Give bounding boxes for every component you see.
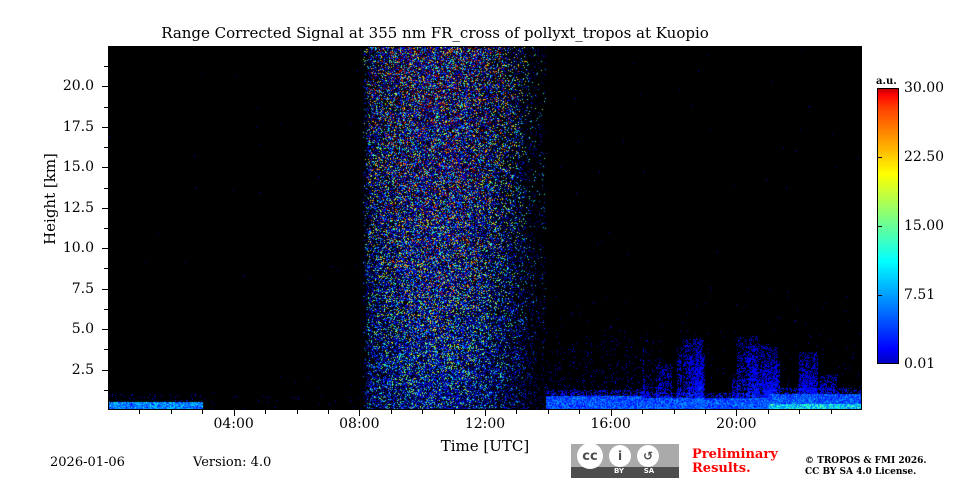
x-tick-mark-minor [171,410,172,414]
y-tick-mark [102,248,108,249]
colorbar-tick-mark [877,295,882,296]
y-tick-mark-minor [104,390,108,391]
x-tick-mark-minor [642,410,643,414]
x-tick-mark-minor [422,410,423,414]
x-tick-mark-minor [328,410,329,414]
lidar-quicklook-plot [108,46,862,410]
colorbar-tick-label: 22.50 [904,149,944,165]
badge-label-row: BY SA [571,467,679,477]
colorbar-tick-mark [877,157,882,158]
y-tick-label: 15.0 [34,159,94,175]
x-tick-mark-minor [705,410,706,414]
x-tick-mark [359,410,360,416]
preliminary-results-note: Preliminary Results. [692,448,778,476]
colorbar-tick-mark [877,226,882,227]
footer-version: Version: 4.0 [193,455,271,470]
by-icon: i [609,445,631,467]
x-tick-mark-minor [297,410,298,414]
y-tick-label: 20.0 [34,78,94,94]
x-tick-mark-minor [202,410,203,414]
x-tick-label: 04:00 [194,416,274,432]
x-tick-label: 12:00 [445,416,525,432]
preliminary-line-2: Results. [692,462,778,476]
x-tick-mark-minor [265,410,266,414]
heatmap-canvas [109,47,862,410]
colorbar-tick-label: 30.00 [904,80,944,96]
copyright-line-1: © TROPOS & FMI 2026. [805,456,927,467]
x-tick-mark-minor [831,410,832,414]
x-tick-label: 20:00 [696,416,776,432]
y-tick-label: 17.5 [34,119,94,135]
x-tick-mark [234,410,235,416]
y-tick-label: 7.5 [34,281,94,297]
x-tick-label: 16:00 [571,416,651,432]
x-tick-mark-minor [548,410,549,414]
colorbar-tick-label: 0.01 [904,356,935,372]
x-tick-mark [611,410,612,416]
x-tick-mark-minor [516,410,517,414]
y-tick-mark [102,208,108,209]
y-tick-mark [102,86,108,87]
by-label: BY [607,467,631,475]
y-tick-label: 5.0 [34,321,94,337]
cc-icon: cc [577,443,603,469]
y-tick-mark [102,167,108,168]
x-tick-mark [485,410,486,416]
footer-date: 2026-01-06 [50,455,125,470]
preliminary-line-1: Preliminary [692,448,778,462]
x-tick-mark-minor [799,410,800,414]
x-tick-mark-minor [454,410,455,414]
y-tick-mark-minor [104,66,108,67]
page-title: Range Corrected Signal at 355 nm FR_cros… [0,24,870,42]
y-tick-label: 2.5 [34,362,94,378]
y-tick-mark [102,127,108,128]
y-tick-mark-minor [104,228,108,229]
x-tick-mark-minor [674,410,675,414]
y-tick-label: 10.0 [34,240,94,256]
y-tick-mark [102,370,108,371]
x-tick-mark-minor [579,410,580,414]
sa-icon: ↺ [637,445,659,467]
x-tick-mark-minor [139,410,140,414]
colorbar-unit-label: a.u. [876,76,897,87]
y-tick-mark-minor [104,147,108,148]
y-tick-mark-minor [104,349,108,350]
y-tick-label: 12.5 [34,200,94,216]
copyright-line-2: CC BY SA 4.0 License. [805,467,927,478]
y-tick-mark-minor [104,107,108,108]
y-tick-mark [102,289,108,290]
x-tick-mark-minor [768,410,769,414]
x-tick-mark-minor [391,410,392,414]
colorbar-tick-label: 7.51 [904,287,935,303]
y-tick-mark [102,329,108,330]
y-tick-mark-minor [104,309,108,310]
x-tick-label: 08:00 [319,416,399,432]
y-tick-mark-minor [104,188,108,189]
cc-license-badge[interactable]: cc i ↺ BY SA [571,444,679,478]
copyright-note: © TROPOS & FMI 2026. CC BY SA 4.0 Licens… [805,456,927,478]
badge-glyph-row: cc i ↺ [571,444,679,468]
sa-label: SA [637,467,661,475]
x-tick-mark [736,410,737,416]
y-tick-mark-minor [104,268,108,269]
colorbar-tick-label: 15.00 [904,218,944,234]
